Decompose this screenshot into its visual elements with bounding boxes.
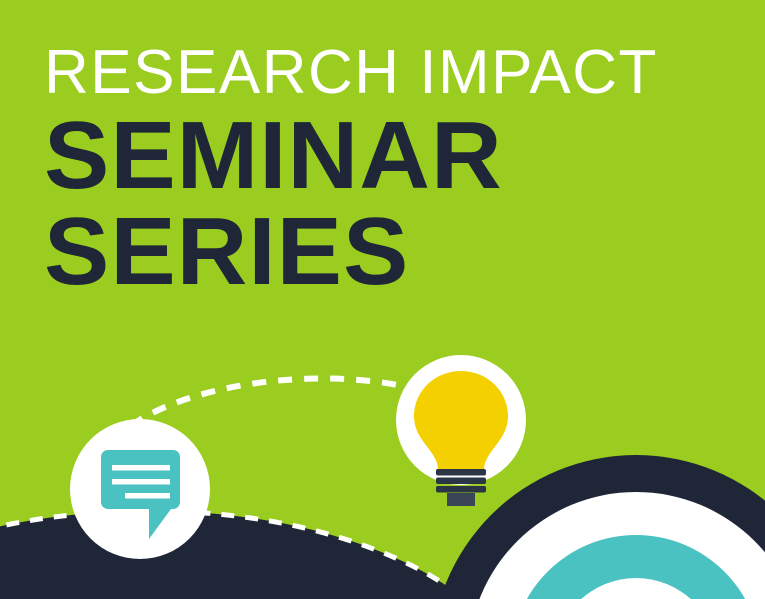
lightbulb-rib-1 (436, 469, 486, 476)
poster-graphics (0, 0, 765, 599)
speech-bubble-line-2 (112, 479, 170, 485)
speech-bubble-line-3 (125, 493, 170, 499)
lightbulb-stem (447, 493, 475, 506)
speech-bubble-line-1 (112, 465, 170, 471)
poster-canvas: RESEARCH IMPACT SEMINAR SERIES (0, 0, 765, 599)
lightbulb-rib-3 (436, 486, 486, 493)
lightbulb-rib-2 (436, 478, 486, 485)
speech-bubble-badge (70, 419, 210, 559)
